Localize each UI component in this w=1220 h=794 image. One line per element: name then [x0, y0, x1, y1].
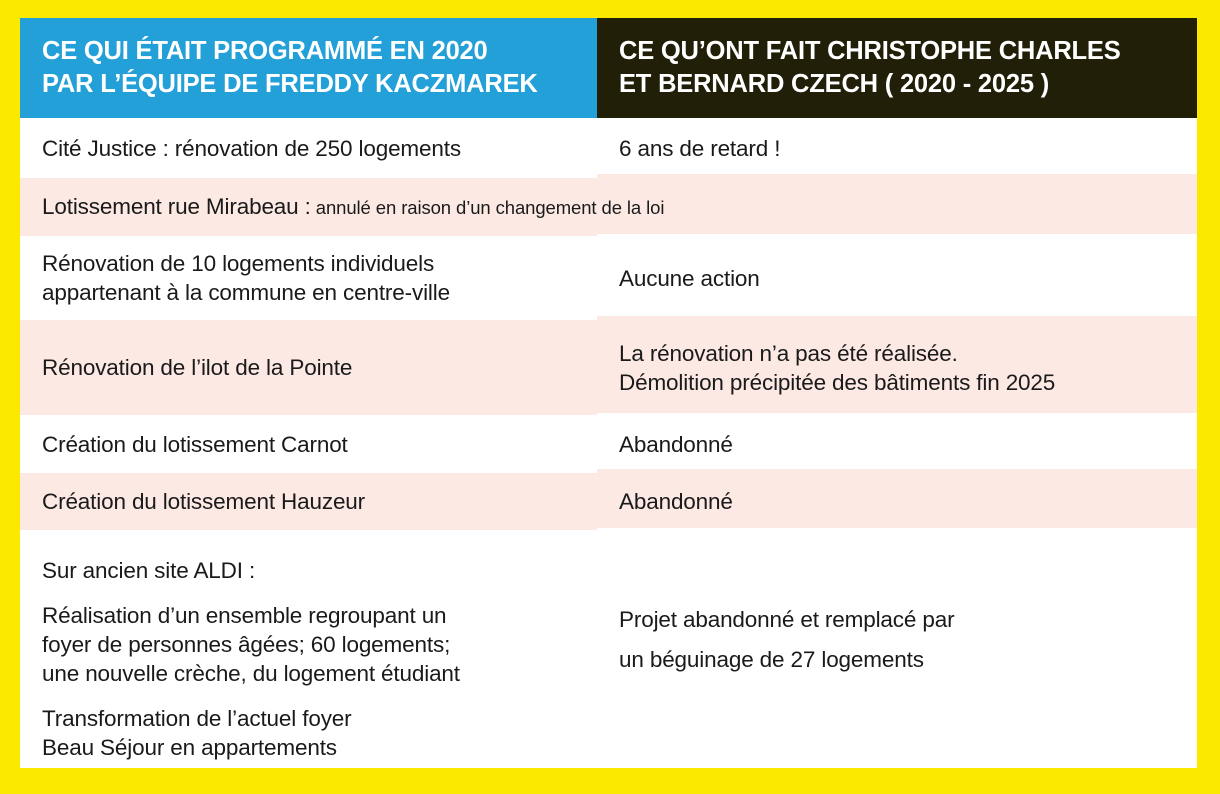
row-text: Cité Justice : rénovation de 250 logemen… — [42, 134, 581, 163]
row-text: Création du lotissement Carnot — [42, 430, 581, 459]
row-text: Abandonné — [619, 430, 1181, 459]
row-text: La rénovation n’a pas été réalisée. — [619, 339, 1181, 368]
cell-right-renovation-10-logements: Aucune action — [597, 236, 1197, 320]
header-cell-programmed-2020: CE QUI ÉTAIT PROGRAMMÉ EN 2020 PAR L’ÉQU… — [20, 18, 597, 118]
row-text-secondary: annulé en raison d’un changement de la l… — [311, 197, 665, 218]
cell-right-cite-justice: 6 ans de retard ! — [597, 118, 1197, 178]
row-text: une nouvelle crèche, du logement étudian… — [42, 659, 581, 688]
row-text: appartenant à la commune en centre-ville — [42, 278, 581, 307]
table-row: Lotissement rue Mirabeau : annulé en rai… — [20, 178, 1197, 236]
row-text: 6 ans de retard ! — [619, 134, 1181, 163]
table-row: Sur ancien site ALDI : Réalisation d’un … — [20, 530, 1197, 768]
row-text: un béguinage de 27 logements — [619, 640, 1181, 680]
header-cell-what-was-done: CE QU’ONT FAIT CHRISTOPHE CHARLES ET BER… — [597, 18, 1197, 118]
comparison-table: CE QUI ÉTAIT PROGRAMMÉ EN 2020 PAR L’ÉQU… — [20, 18, 1197, 768]
table-row: Rénovation de l’ilot de la Pointe La rén… — [20, 320, 1197, 415]
cell-right-lotissement-carnot: Abandonné — [597, 415, 1197, 473]
header-left-line-2: PAR L’ÉQUIPE DE FREDDY KACZMAREK — [42, 68, 579, 101]
row-text-intro: Sur ancien site ALDI : — [42, 556, 581, 585]
row-text: Rénovation de l’ilot de la Pointe — [42, 353, 581, 382]
cell-left-cite-justice: Cité Justice : rénovation de 250 logemen… — [20, 118, 597, 178]
table-row: Création du lotissement Hauzeur Abandonn… — [20, 473, 1197, 530]
row-text: Abandonné — [619, 487, 1181, 516]
row-text: Projet abandonné et remplacé par — [619, 600, 1181, 640]
header-right-line-1: CE QU’ONT FAIT CHRISTOPHE CHARLES — [619, 35, 1179, 68]
header-left-line-1: CE QUI ÉTAIT PROGRAMMÉ EN 2020 — [42, 35, 579, 68]
row-text: Réalisation d’un ensemble regroupant un — [42, 601, 581, 630]
cell-span-lotissement-mirabeau: Lotissement rue Mirabeau : annulé en rai… — [20, 178, 1197, 236]
row-text: Lotissement rue Mirabeau : — [42, 194, 311, 219]
row-text: Transformation de l’actuel foyer — [42, 704, 581, 733]
cell-right-lotissement-hauzeur: Abandonné — [597, 473, 1197, 530]
row-text: Rénovation de 10 logements individuels — [42, 249, 581, 278]
cell-left-site-aldi: Sur ancien site ALDI : Réalisation d’un … — [20, 530, 597, 768]
row-text: Création du lotissement Hauzeur — [42, 487, 581, 516]
cell-left-ilot-de-la-pointe: Rénovation de l’ilot de la Pointe — [20, 320, 597, 415]
cell-right-site-aldi: Projet abandonné et remplacé par un bégu… — [597, 530, 1197, 768]
cell-left-renovation-10-logements: Rénovation de 10 logements individuels a… — [20, 236, 597, 320]
cell-left-lotissement-carnot: Création du lotissement Carnot — [20, 415, 597, 473]
table-header-row: CE QUI ÉTAIT PROGRAMMÉ EN 2020 PAR L’ÉQU… — [20, 18, 1197, 118]
cell-left-lotissement-hauzeur: Création du lotissement Hauzeur — [20, 473, 597, 530]
table-row: Cité Justice : rénovation de 250 logemen… — [20, 118, 1197, 178]
cell-right-ilot-de-la-pointe: La rénovation n’a pas été réalisée. Démo… — [597, 320, 1197, 415]
row-text: foyer de personnes âgées; 60 logements; — [42, 630, 581, 659]
row-text: Aucune action — [619, 264, 1181, 293]
row-text: Beau Séjour en appartements — [42, 733, 581, 762]
table-row: Création du lotissement Carnot Abandonné — [20, 415, 1197, 473]
table-row: Rénovation de 10 logements individuels a… — [20, 236, 1197, 320]
header-right-line-2: ET BERNARD CZECH ( 2020 - 2025 ) — [619, 68, 1179, 101]
table-body: Cité Justice : rénovation de 250 logemen… — [20, 118, 1197, 768]
row-text-group: Lotissement rue Mirabeau : annulé en rai… — [42, 192, 1181, 222]
row-text: Démolition précipitée des bâtiments fin … — [619, 368, 1181, 397]
